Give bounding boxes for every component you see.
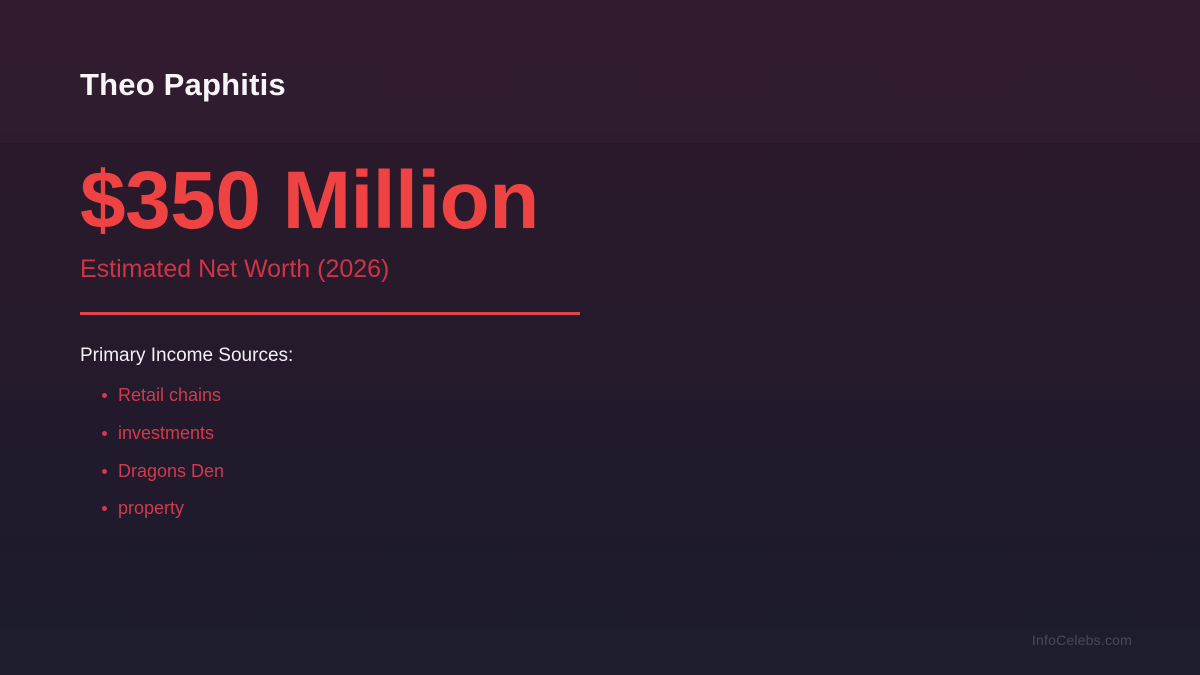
- income-sources-list: Retail chains investments Dragons Den pr…: [80, 385, 1120, 519]
- footer-band: [0, 628, 1200, 675]
- list-item-label: investments: [118, 423, 214, 443]
- net-worth-value: $350 Million: [80, 160, 1120, 242]
- bullet-dot-icon: [102, 393, 107, 398]
- main-content: $350 Million Estimated Net Worth (2026) …: [80, 160, 1120, 536]
- list-item-label: property: [118, 498, 184, 518]
- slide-canvas: Theo Paphitis $350 Million Estimated Net…: [0, 0, 1200, 675]
- section-divider: [80, 312, 580, 315]
- bullet-dot-icon: [102, 469, 107, 474]
- net-worth-label: Estimated Net Worth (2026): [80, 256, 1120, 284]
- list-item: Dragons Den: [80, 461, 1120, 482]
- list-item: investments: [80, 423, 1120, 444]
- bullet-dot-icon: [102, 431, 107, 436]
- list-item: property: [80, 498, 1120, 519]
- list-item-label: Dragons Den: [118, 461, 224, 481]
- page-title: Theo Paphitis: [80, 68, 286, 102]
- bullet-dot-icon: [102, 506, 107, 511]
- list-item: Retail chains: [80, 385, 1120, 406]
- watermark: InfoCelebs.com: [1032, 632, 1132, 648]
- list-item-label: Retail chains: [118, 385, 221, 405]
- income-sources-heading: Primary Income Sources:: [80, 345, 1120, 368]
